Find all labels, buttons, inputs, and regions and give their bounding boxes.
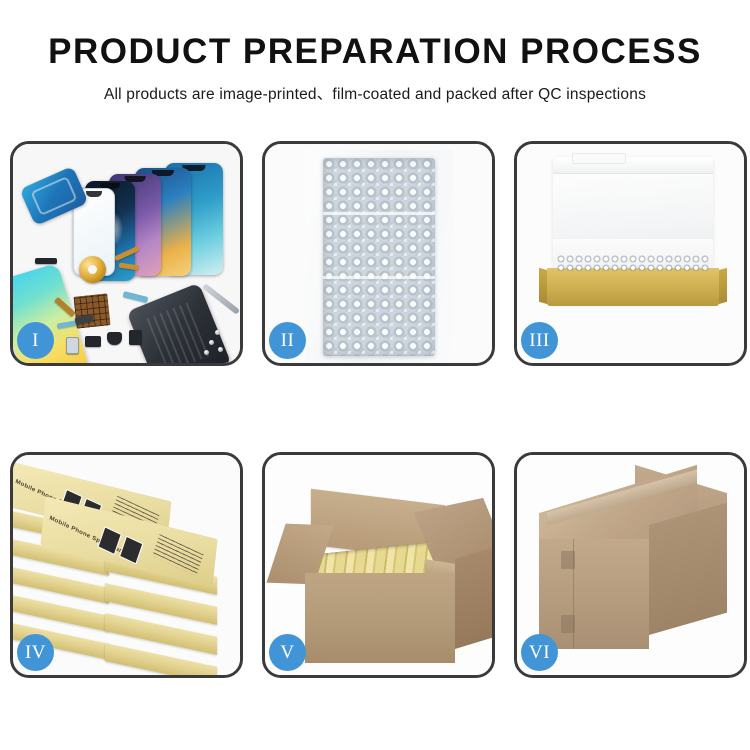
- wrap-seam: [323, 276, 435, 279]
- connector-part: [129, 330, 142, 345]
- wrap-seam: [323, 212, 435, 215]
- step-badge-6: VI: [521, 634, 558, 671]
- carton-front-face: [539, 539, 649, 649]
- notch-icon: [86, 191, 102, 197]
- screw-part: [209, 340, 214, 345]
- process-step-grid: I II III: [10, 141, 740, 678]
- step-badge-4: IV: [17, 634, 54, 671]
- carton-right-side: [455, 546, 492, 649]
- step-badge-1: I: [17, 322, 54, 359]
- box-product-window: [119, 536, 143, 565]
- process-step-panel-3: III: [514, 141, 747, 366]
- bubble-wrap-texture: [323, 158, 435, 356]
- carton-front-face: [305, 573, 455, 663]
- process-step-panel-2: II: [262, 141, 495, 366]
- process-step-panel-1: I: [10, 141, 243, 366]
- process-step-panel-6: VI: [514, 452, 747, 678]
- earpiece-part: [35, 258, 57, 264]
- lid-tab: [572, 153, 626, 164]
- kraft-box-tray: [547, 268, 719, 306]
- sim-tray-part: [66, 337, 79, 354]
- step-badge-5: V: [269, 634, 306, 671]
- page-subtitle: All products are image-printed、film-coat…: [0, 82, 750, 104]
- step-badge-2: II: [269, 322, 306, 359]
- box-spec-lines: [152, 534, 203, 576]
- process-step-panel-5: V: [262, 452, 495, 678]
- page-header: PRODUCT PREPARATION PROCESS All products…: [0, 0, 750, 104]
- screw-part: [218, 347, 223, 352]
- carton-seam: [573, 539, 574, 649]
- screw-part: [215, 330, 220, 335]
- step-badge-3: III: [521, 322, 558, 359]
- page-title: PRODUCT PREPARATION PROCESS: [0, 34, 750, 71]
- camera-module-part: [85, 336, 101, 347]
- vibrator-part: [107, 332, 122, 345]
- carton-right-face: [649, 503, 727, 635]
- screw-part: [204, 350, 209, 355]
- speaker-coil-part: [79, 256, 106, 283]
- process-step-panel-4: Mobile Phone Spare Parts Mobile Phone Sp…: [10, 452, 243, 678]
